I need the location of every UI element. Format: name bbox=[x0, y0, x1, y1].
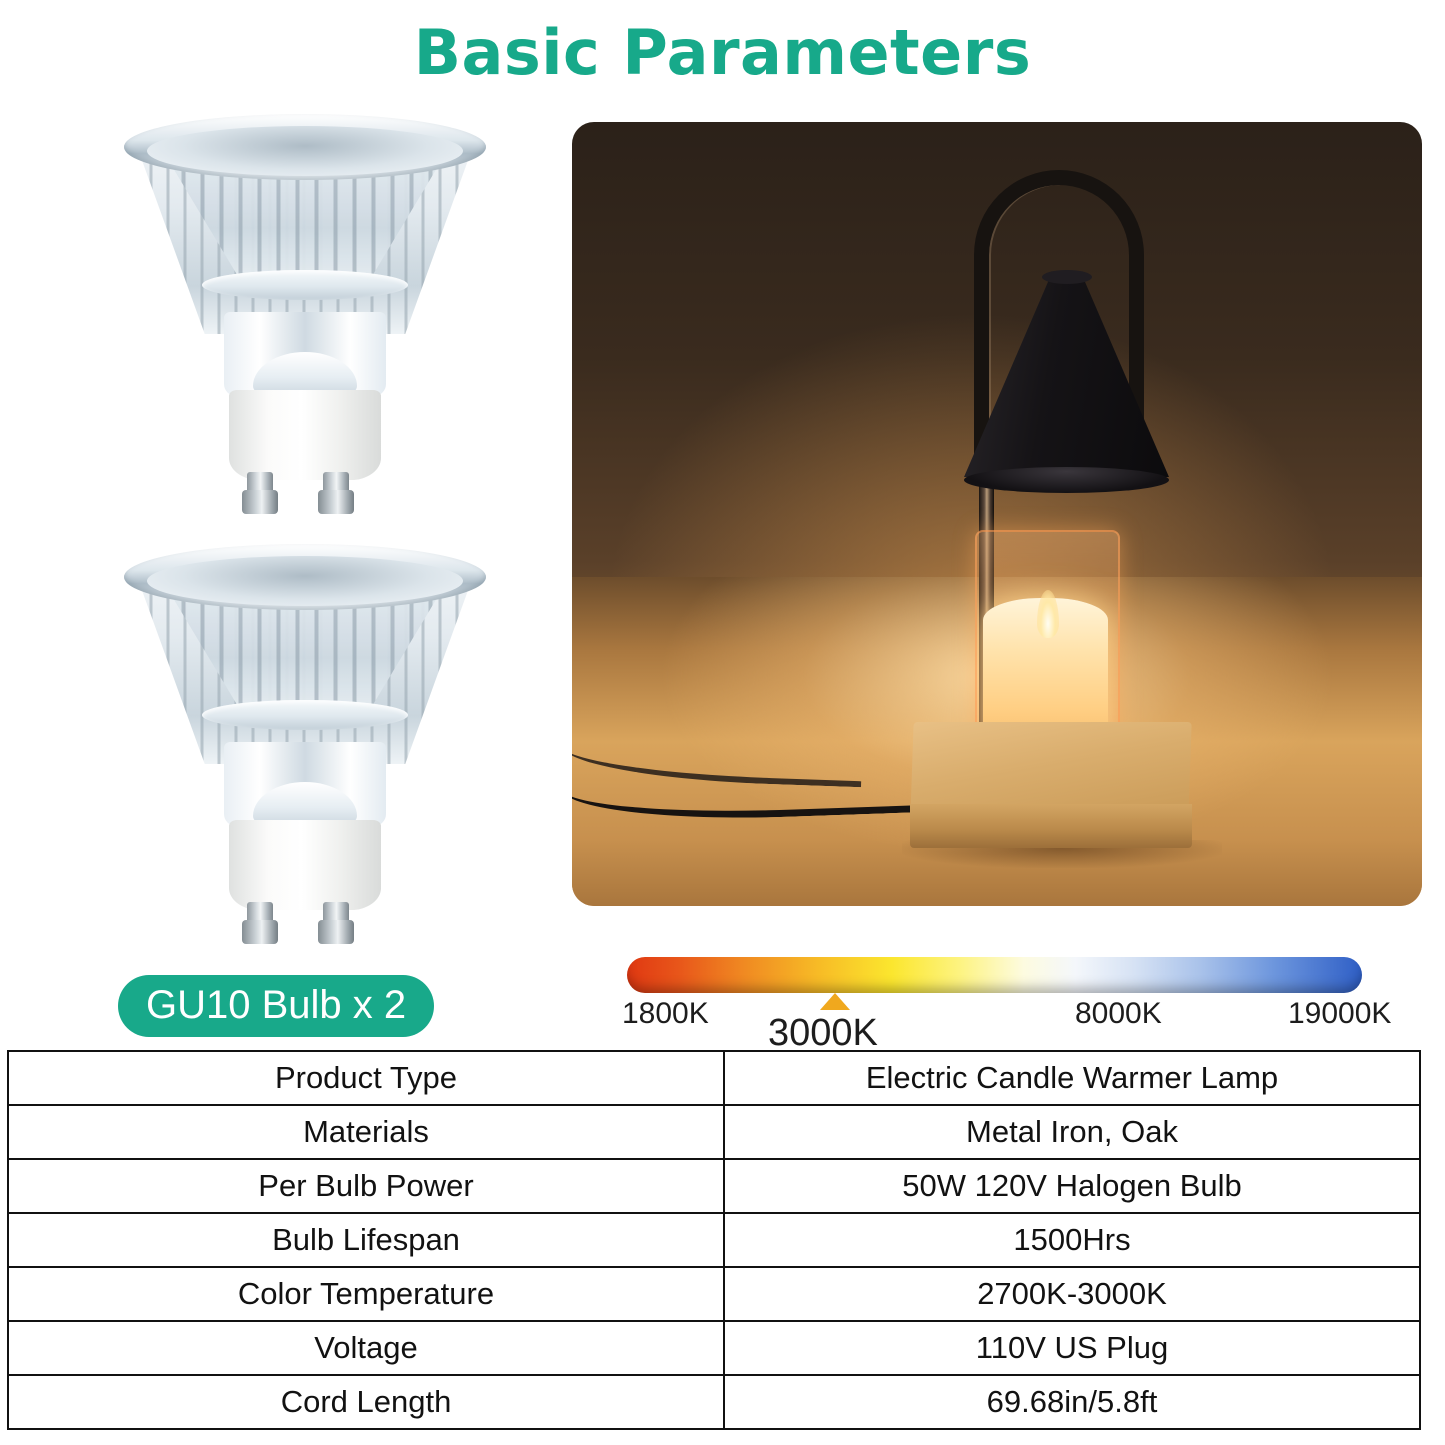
bulb-rim-inner bbox=[147, 126, 463, 176]
candle-glass-jar bbox=[975, 530, 1120, 748]
spec-key: Per Bulb Power bbox=[8, 1159, 724, 1213]
ct-tick-label-max: 19000K bbox=[1288, 997, 1391, 1031]
spec-key: Bulb Lifespan bbox=[8, 1213, 724, 1267]
infographic-page: Basic Parameters bbox=[0, 0, 1445, 1445]
table-row: Voltage110V US Plug bbox=[8, 1321, 1420, 1375]
table-row: Per Bulb Power50W 120V Halogen Bulb bbox=[8, 1159, 1420, 1213]
lamp-product-photo bbox=[572, 122, 1422, 906]
spec-key: Color Temperature bbox=[8, 1267, 724, 1321]
color-temperature-gradient-bar bbox=[627, 957, 1362, 993]
ct-marker-label: 3000K bbox=[768, 1012, 878, 1055]
ct-tick-label-min: 1800K bbox=[622, 997, 709, 1031]
ct-tick-label-mid: 8000K bbox=[1075, 997, 1162, 1031]
spec-key: Materials bbox=[8, 1105, 724, 1159]
spec-key: Voltage bbox=[8, 1321, 724, 1375]
spec-value: 69.68in/5.8ft bbox=[724, 1375, 1420, 1429]
gu10-bulb-image-1 bbox=[95, 112, 515, 532]
lamp-shade-lip bbox=[964, 467, 1169, 493]
bulb-reflector-floor bbox=[202, 270, 408, 300]
spec-value: 1500Hrs bbox=[724, 1213, 1420, 1267]
table-row: Product TypeElectric Candle Warmer Lamp bbox=[8, 1051, 1420, 1105]
spec-value: 2700K-3000K bbox=[724, 1267, 1420, 1321]
bulb-quantity-badge: GU10 Bulb x 2 bbox=[118, 975, 434, 1037]
bulb-pin-right bbox=[323, 472, 349, 514]
specifications-table: Product TypeElectric Candle Warmer LampM… bbox=[7, 1050, 1421, 1430]
table-row: Color Temperature2700K-3000K bbox=[8, 1267, 1420, 1321]
bulb-reflector-floor bbox=[202, 700, 408, 730]
lamp-shade-top bbox=[1042, 270, 1092, 284]
bulb-ceramic-base bbox=[229, 390, 381, 480]
gu10-bulb-image-2 bbox=[95, 542, 515, 962]
table-row: MaterialsMetal Iron, Oak bbox=[8, 1105, 1420, 1159]
spec-key: Product Type bbox=[8, 1051, 724, 1105]
spec-value: Electric Candle Warmer Lamp bbox=[724, 1051, 1420, 1105]
spec-value: 110V US Plug bbox=[724, 1321, 1420, 1375]
spec-value: 50W 120V Halogen Bulb bbox=[724, 1159, 1420, 1213]
bulb-pin-right bbox=[323, 902, 349, 944]
bulb-ceramic-base bbox=[229, 820, 381, 910]
wooden-base-front bbox=[910, 804, 1192, 848]
table-row: Bulb Lifespan1500Hrs bbox=[8, 1213, 1420, 1267]
color-temperature-marker-icon bbox=[820, 993, 850, 1010]
table-row: Cord Length69.68in/5.8ft bbox=[8, 1375, 1420, 1429]
spec-value: Metal Iron, Oak bbox=[724, 1105, 1420, 1159]
page-title: Basic Parameters bbox=[0, 16, 1445, 89]
bulb-pin-left bbox=[247, 472, 273, 514]
bulb-rim-inner bbox=[147, 556, 463, 606]
spec-key: Cord Length bbox=[8, 1375, 724, 1429]
bulb-pin-left bbox=[247, 902, 273, 944]
